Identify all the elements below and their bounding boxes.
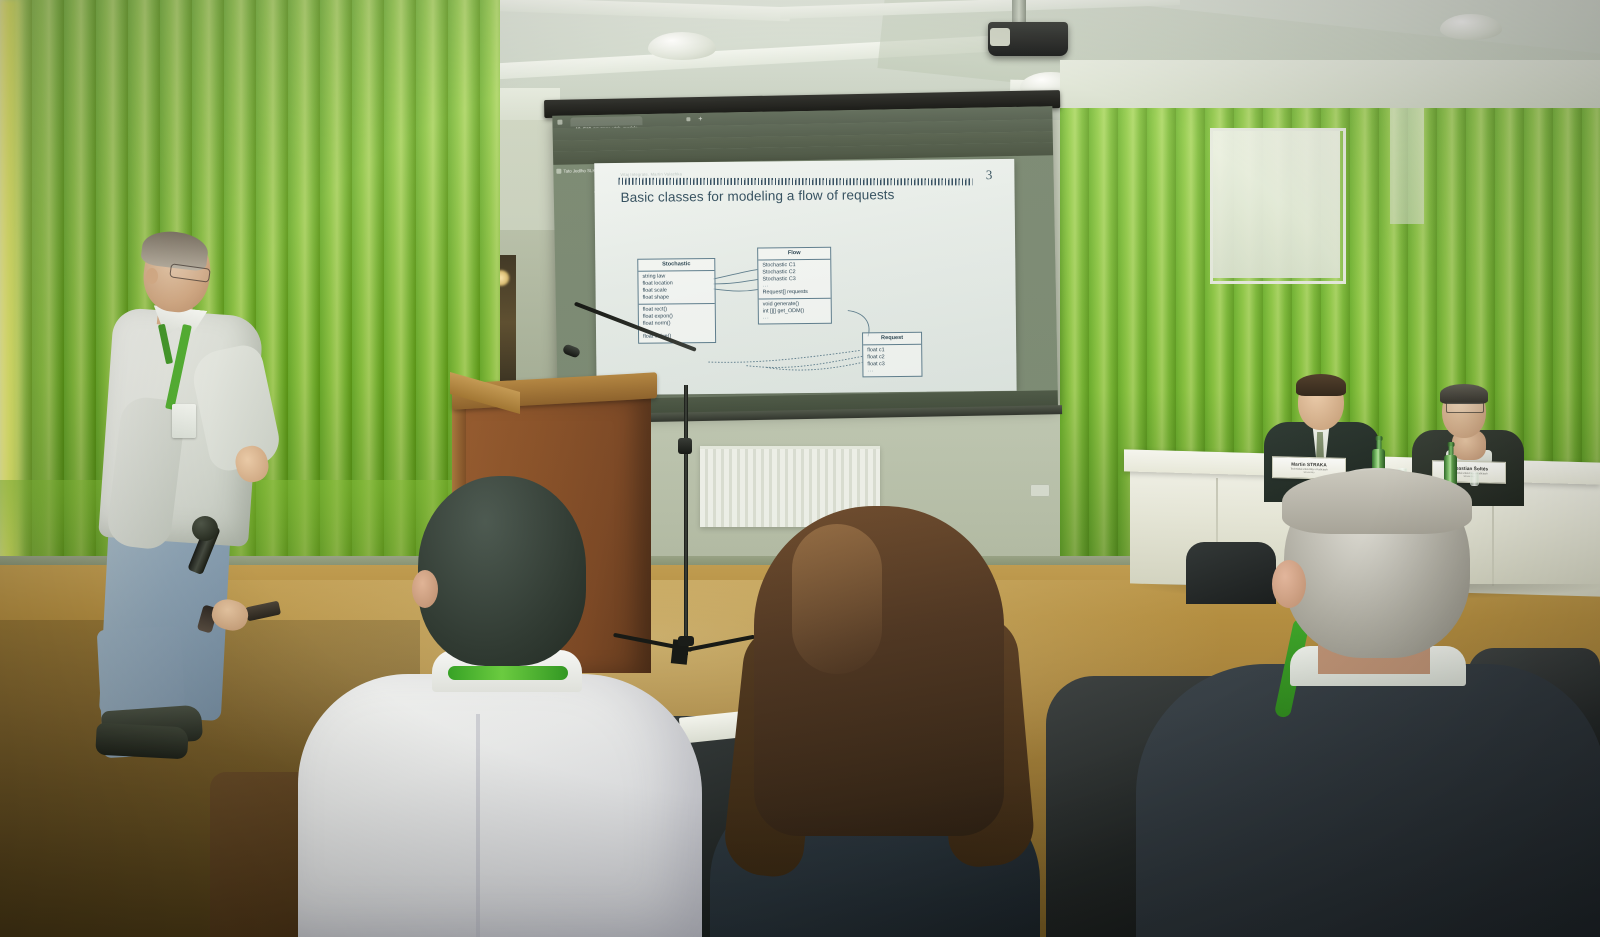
wall-socket: [1030, 484, 1050, 497]
uml-methods: float rect() float expon() float norm() …: [639, 304, 715, 343]
attendee-grey-hair: [1076, 468, 1600, 937]
screen-surface: 10_C10_nauscov_utab_modelo + Súbor C:/CI…: [552, 106, 1058, 416]
smartphone-icon: [245, 601, 281, 622]
attendee-ear: [412, 570, 438, 608]
attendee-shirt-seam: [476, 714, 480, 937]
uml-attributes: float c1 float c2 float c3 ...: [863, 344, 921, 376]
uml-ellipsis: ...: [763, 315, 827, 322]
attendee-long-hair: [704, 506, 1044, 937]
presenter-badge: [172, 404, 196, 438]
uml-class-name: Stochastic: [638, 259, 714, 271]
glasses-icon: [1446, 402, 1484, 413]
browser-tab[interactable]: 10_C10_nauscov_utab_modelo: [570, 116, 642, 126]
attendee-lanyard: [448, 666, 568, 680]
uml-attributes: string law float location float scale fl…: [638, 271, 714, 305]
ceiling-light-right: [1440, 14, 1502, 40]
attendee-hair: [1282, 470, 1472, 534]
uml-attr: float shape: [643, 294, 711, 302]
attendee-head: [418, 476, 586, 666]
conference-room-photo: 10_C10_nauscov_utab_modelo + Súbor C:/CI…: [0, 0, 1600, 937]
presenter-ear: [146, 268, 158, 284]
presenter-shoe: [95, 723, 189, 760]
microphone-stand-clutch: [678, 438, 692, 454]
new-tab-icon[interactable]: +: [698, 115, 702, 122]
ceiling-light-left: [648, 32, 716, 60]
uml-attributes: Stochastic C1 Stochastic C2 Stochastic C…: [758, 259, 830, 299]
attendee-hair-highlight: [792, 524, 882, 674]
panelist-hair: [1296, 374, 1346, 396]
uml-methods: void generate() int [][] get_ODM() ...: [759, 299, 831, 324]
uml-attr: Request[] requests: [763, 289, 827, 297]
projector-lens: [990, 28, 1010, 46]
uml-class-name: Request: [863, 333, 921, 345]
panelist-hair: [1440, 384, 1488, 404]
attendee-ear: [1272, 560, 1306, 608]
microphone-icon: [192, 516, 218, 541]
close-icon[interactable]: [686, 117, 690, 121]
uml-ellipsis: ...: [867, 368, 917, 374]
attendee-white-shirt: [282, 474, 712, 937]
uml-class-flow: Flow Stochastic C1 Stochastic C2 Stochas…: [757, 247, 832, 325]
attendee-jacket: [1136, 664, 1600, 937]
pdf-slide-page: Vitaj Integrate, Martin Valachka 3 Basic…: [594, 159, 1016, 395]
uml-class-request: Request float c1 float c2 float c3 ...: [862, 332, 922, 378]
uml-class-name: Flow: [758, 248, 830, 260]
star-icon[interactable]: [556, 169, 561, 174]
projector-mount: [1012, 0, 1026, 24]
attendee-shirt: [298, 674, 702, 937]
